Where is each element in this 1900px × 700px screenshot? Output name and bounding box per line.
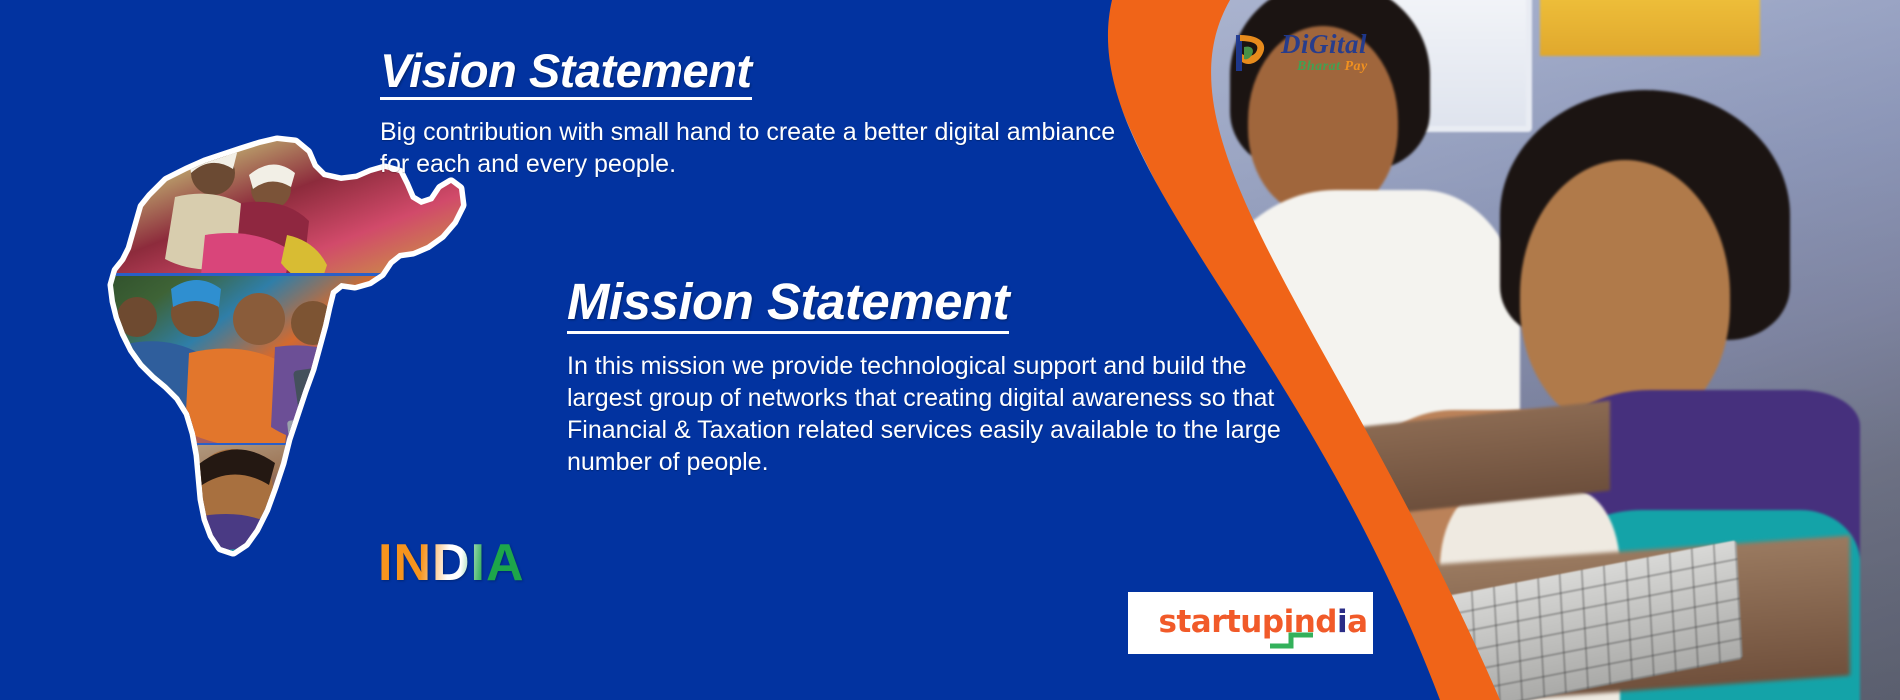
mission-statement-block: Mission Statement In this mission we pro… bbox=[567, 275, 1307, 478]
vision-statement-block: Vision Statement Big contribution with s… bbox=[380, 46, 1120, 180]
dbp-bharat-text: Bharat bbox=[1297, 59, 1340, 74]
wall-cabinet bbox=[1540, 0, 1760, 56]
startupindia-logo: startupindia bbox=[1128, 592, 1373, 654]
startupindia-text-i: i bbox=[1337, 604, 1347, 640]
startupindia-text-a: a bbox=[1347, 604, 1367, 640]
dbp-main-text: DiGital bbox=[1281, 31, 1368, 58]
india-wordmark: INDIA bbox=[378, 533, 525, 593]
vision-statement-body: Big contribution with small hand to crea… bbox=[380, 116, 1120, 180]
digital-bharat-pay-text: DiGital Bharat Pay bbox=[1281, 31, 1368, 74]
dbp-pay-text: Pay bbox=[1344, 59, 1367, 74]
mission-statement-body: In this mission we provide technological… bbox=[567, 350, 1307, 478]
digital-bharat-pay-mark-icon bbox=[1228, 29, 1274, 75]
statements-content: Vision Statement Big contribution with s… bbox=[372, 0, 1192, 700]
startupindia-logo-text: startupindia bbox=[1159, 604, 1368, 640]
digital-bharat-pay-logo: DiGital Bharat Pay bbox=[1228, 22, 1428, 82]
mission-statement-title: Mission Statement bbox=[567, 275, 1009, 334]
vision-mission-banner: Vision Statement Big contribution with s… bbox=[0, 0, 1900, 700]
startupindia-text-start: startup bbox=[1159, 604, 1284, 640]
startupindia-steps-icon bbox=[1269, 627, 1324, 649]
dbp-sub-text: Bharat Pay bbox=[1297, 60, 1368, 74]
vision-statement-title: Vision Statement bbox=[380, 46, 752, 100]
